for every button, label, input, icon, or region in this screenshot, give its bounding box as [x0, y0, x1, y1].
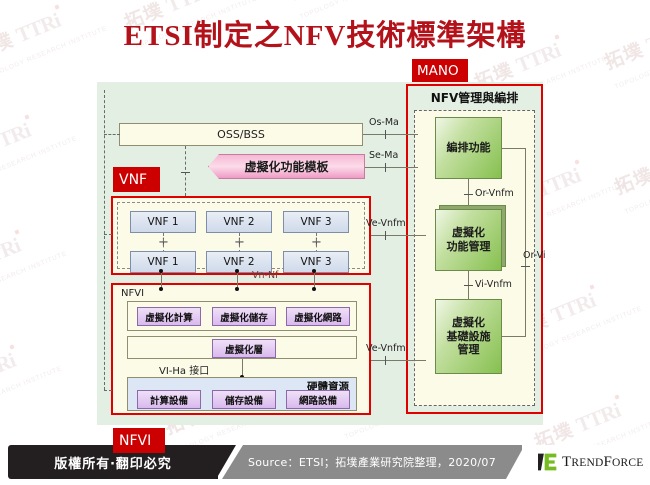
- vn-nf-dot: [159, 287, 163, 291]
- ve-vnfm-bottom-label: Ve-Vnfm: [366, 343, 406, 354]
- mano-title: NFV管理與編排: [408, 89, 541, 106]
- footer-source-text: Source：ETSI；拓墣產業研究院整理，2020/07: [248, 454, 496, 470]
- dashed-connector-nfvi: [104, 390, 112, 391]
- ve-vnfm-bottom-tick: [385, 356, 386, 365]
- vn-nf-dot: [312, 269, 316, 273]
- dashed-connector-ossbss: [104, 134, 120, 135]
- mano-in-ve-vnfm-bottom: [400, 360, 426, 361]
- watermark-ttr: TTRi: [573, 398, 624, 437]
- hardware-resource-cell[interactable]: 儲存設備: [212, 390, 276, 409]
- orchestrator-label: 編排功能: [447, 141, 491, 155]
- brand-t: T: [562, 454, 571, 470]
- nfvi-label: NFVI: [121, 288, 144, 299]
- vnf-group-box: VNF 1 VNF 2 VNF 3 + + + VNF 1 VNF 2 VNF …: [111, 196, 371, 275]
- vim-label-1: 虚擬化: [452, 316, 485, 330]
- vim-label-2: 基礎設施: [447, 330, 491, 344]
- orchestrator-box[interactable]: 編排功能: [435, 117, 502, 179]
- vnf-cell[interactable]: VNF 3: [283, 251, 349, 273]
- vnf-cell[interactable]: VNF 1: [130, 251, 196, 273]
- vnf-link-dashed: [239, 233, 240, 253]
- hardware-resource-cell[interactable]: 計算設備: [137, 390, 201, 409]
- oss-bss-box[interactable]: OSS/BSS: [119, 123, 363, 146]
- vnf-manager-label-2: 功能管理: [447, 240, 491, 254]
- virtual-resource-cell[interactable]: 虚擬化儲存: [212, 307, 276, 326]
- left-dashed-bus: [104, 90, 105, 390]
- virtualization-layer-cell[interactable]: 虚擬化層: [212, 339, 276, 358]
- virtual-resources-panel: 虚擬化計算 虚擬化儲存 虚擬化網路: [127, 301, 357, 331]
- nfvi-group-box: NFVI 虚擬化計算 虚擬化儲存 虚擬化網路 虚擬化層 VI-Ha 接口 硬體資…: [111, 283, 371, 415]
- virtual-function-template-box[interactable]: 虚擬化功能模板: [208, 154, 365, 179]
- se-ma-label: Se-Ma: [369, 150, 398, 161]
- mano-in-ve-vnfm-top: [400, 235, 426, 236]
- virtual-resource-cell[interactable]: 虚擬化計算: [137, 307, 201, 326]
- os-ma-tick: [385, 130, 386, 139]
- mano-in-os-ma: [400, 134, 418, 135]
- vi-ha-label: VI-Ha 接口: [159, 362, 209, 377]
- brand-orce: ORCE: [612, 457, 643, 469]
- footer-copyright-text: 版權所有‧翻印必究: [54, 453, 172, 472]
- vn-nf-dot: [312, 287, 316, 291]
- hardware-resources-panel: 硬體資源 計算設備 儲存設備 網路設備: [127, 377, 357, 411]
- watermark-ttr: TTRi: [0, 233, 23, 272]
- or-vi-bottom-segment: [502, 336, 526, 337]
- trendforce-logo-icon: [538, 452, 558, 472]
- or-vi-tick: [521, 266, 530, 267]
- vnf-link-dashed: [163, 233, 164, 253]
- brand-f: F: [603, 454, 612, 470]
- vi-vnfm-label: Vi-Vnfm: [475, 279, 512, 290]
- vn-nf-tick: [181, 172, 190, 173]
- or-vi-label: Or-Vi: [523, 250, 546, 261]
- ossbss-to-vnf-dashed: [185, 146, 186, 196]
- vnf-manager-label-1: 虚擬化: [452, 226, 485, 240]
- or-vnfm-label: Or-Vnfm: [475, 188, 514, 199]
- vim-label-3: 管理: [458, 343, 480, 357]
- mano-tag: MANO: [412, 59, 468, 82]
- vnf-cell[interactable]: VNF 2: [206, 211, 272, 233]
- footer-source: Source：ETSI；拓墣產業研究院整理，2020/07: [222, 445, 522, 479]
- dashed-connector-vnf: [104, 234, 112, 235]
- watermark-ttr: TTRi: [548, 288, 599, 327]
- vn-nf-dot: [235, 287, 239, 291]
- or-vi-vertical: [525, 148, 526, 336]
- vn-nf-dot: [159, 269, 163, 273]
- hardware-resource-cell[interactable]: 網路設備: [286, 390, 350, 409]
- vnf-cell[interactable]: VNF 3: [283, 211, 349, 233]
- or-vi-top-segment: [502, 148, 526, 149]
- watermark-ttr: TTRi: [0, 348, 18, 387]
- mano-inner-dashed: 編排功能 Or-Vnfm 虚擬化 功能管理 Vi-Vnfm 虚擬化 基礎設施 管…: [414, 110, 535, 406]
- brand-rend: REND: [571, 457, 603, 469]
- mano-in-se-ma: [400, 167, 418, 168]
- vnf-tag: VNF: [113, 167, 160, 192]
- or-vnfm-tick: [464, 194, 473, 195]
- ve-vnfm-top-label: Ve-Vnfm: [366, 218, 406, 229]
- os-ma-label: Os-Ma: [369, 117, 399, 128]
- ve-vnfm-top-tick: [385, 231, 386, 240]
- or-vnfm-line: [468, 179, 469, 207]
- trendforce-wordmark: TRENDFORCE: [562, 454, 644, 471]
- vim-box[interactable]: 虚擬化 基礎設施 管理: [435, 299, 502, 374]
- se-ma-tick: [385, 163, 386, 172]
- vnf-link-dashed: [316, 233, 317, 253]
- page-title: ETSI制定之NFV技術標準架構: [0, 12, 650, 54]
- virtualization-layer-panel: 虚擬化層: [127, 336, 357, 359]
- footer-bar: 版權所有‧翻印必究 Source：ETSI；拓墣產業研究院整理，2020/07 …: [0, 441, 650, 485]
- virtual-resource-cell[interactable]: 虚擬化網路: [286, 307, 350, 326]
- nfvi-tag: NFVI: [113, 428, 165, 453]
- mano-group-box: NFV管理與編排 編排功能 Or-Vnfm 虚擬化 功能管理 Vi-Vnfm 虚…: [406, 84, 543, 414]
- vn-nf-dot: [235, 269, 239, 273]
- watermark-ttr: TTRi: [0, 118, 33, 157]
- vnf-cell[interactable]: VNF 1: [130, 211, 196, 233]
- footer-brand: TRENDFORCE: [506, 445, 650, 479]
- vn-nf-label: Vn-Nf: [252, 270, 278, 281]
- vnf-manager-box[interactable]: 虚擬化 功能管理: [435, 209, 502, 271]
- vi-vnfm-tick: [464, 285, 473, 286]
- slide-canvas: 拓墣 TTRiTOPOLOGY RESEARCH INSTITUTE 拓墣 TT…: [0, 0, 650, 485]
